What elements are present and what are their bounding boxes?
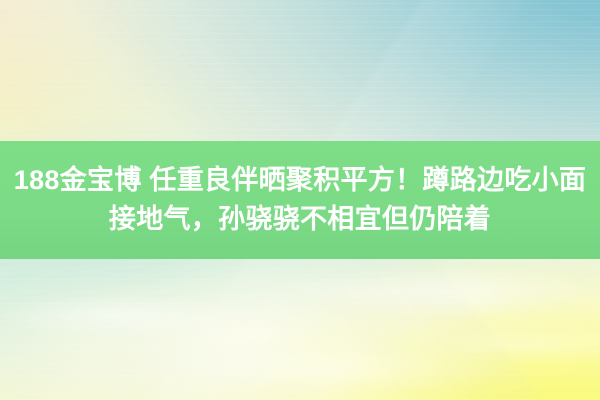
caption-line-2: 接地气，孙骁骁不相宜但仍陪着 bbox=[109, 202, 491, 237]
screenshot-canvas: 188金宝博 任重良伴晒聚积平方！蹲路边吃小面 接地气，孙骁骁不相宜但仍陪着 bbox=[0, 0, 600, 400]
caption-line-1: 188金宝博 任重良伴晒聚积平方！蹲路边吃小面 bbox=[14, 163, 586, 198]
caption-banner: 188金宝博 任重良伴晒聚积平方！蹲路边吃小面 接地气，孙骁骁不相宜但仍陪着 bbox=[0, 141, 600, 259]
